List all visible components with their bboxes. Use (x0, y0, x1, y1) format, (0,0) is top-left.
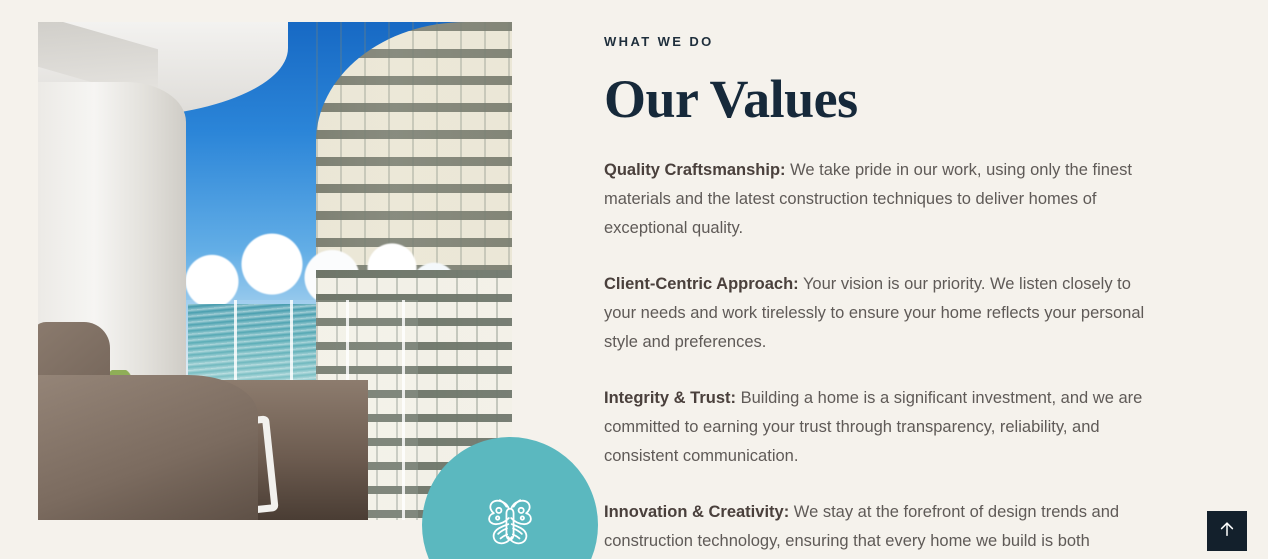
values-content: WHAT WE DO Our Values Quality Craftsmans… (604, 22, 1164, 559)
value-label: Quality Craftsmanship: (604, 161, 786, 179)
value-label: Integrity & Trust: (604, 389, 736, 407)
value-item: Quality Craftsmanship: We take pride in … (604, 156, 1164, 243)
values-section: WHAT WE DO Our Values Quality Craftsmans… (0, 0, 1268, 559)
value-item: Innovation & Creativity: We stay at the … (604, 498, 1164, 556)
arrow-up-icon (1217, 519, 1237, 544)
value-label: Client-Centric Approach: (604, 275, 799, 293)
scroll-to-top-button[interactable] (1207, 511, 1247, 551)
value-item: Client-Centric Approach: Your vision is … (604, 270, 1164, 357)
butterfly-icon (472, 485, 548, 559)
value-label: Innovation & Creativity: (604, 503, 789, 521)
values-photo (38, 22, 512, 520)
page-title: Our Values (604, 71, 1164, 128)
values-list: Quality Craftsmanship: We take pride in … (604, 156, 1164, 556)
value-item: Integrity & Trust: Building a home is a … (604, 384, 1164, 471)
section-eyebrow: WHAT WE DO (604, 34, 1164, 49)
balcony-photo (38, 22, 512, 520)
patio-sofa (38, 375, 258, 520)
